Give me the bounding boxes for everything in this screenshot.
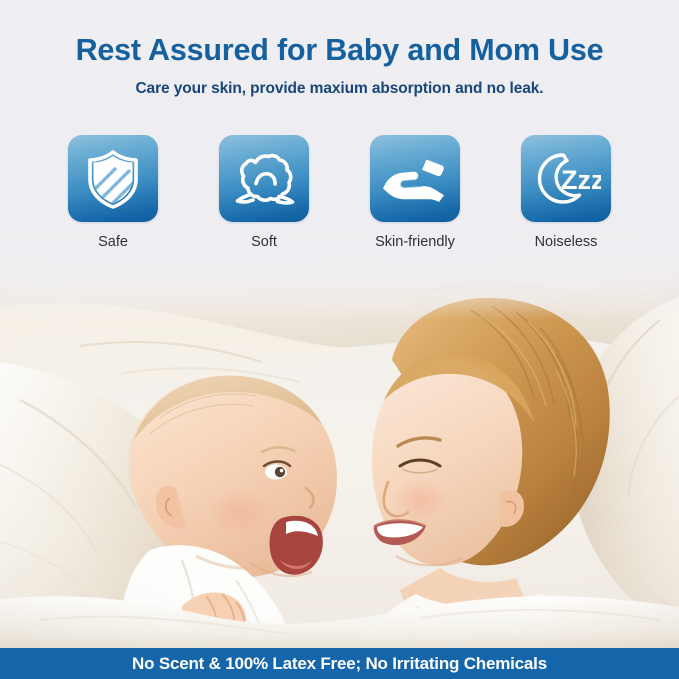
feature-label-safe: Safe [98, 234, 128, 250]
feature-label-noiseless: Noiseless [535, 234, 598, 250]
bottom-claim-text: No Scent & 100% Latex Free; No Irritatin… [132, 654, 547, 674]
feature-item-safe: Safe [48, 135, 178, 260]
feature-item-skin-friendly: Skin-friendly [350, 135, 480, 260]
feature-tile-noiseless: Zzz [521, 135, 611, 222]
feature-tile-safe [68, 135, 158, 222]
photo-top-fade [0, 250, 679, 320]
lifestyle-photo-mother-and-baby [0, 250, 679, 648]
bottom-claim-banner: No Scent & 100% Latex Free; No Irritatin… [0, 648, 679, 679]
feature-list: Safe Soft [48, 135, 631, 260]
product-infographic: Rest Assured for Baby and Mom Use Care y… [0, 0, 679, 679]
moon-zzz-icon: Zzz [531, 150, 601, 208]
feature-label-skin-friendly: Skin-friendly [375, 234, 455, 250]
feature-tile-soft [219, 135, 309, 222]
cloud-cotton-icon [231, 150, 297, 208]
feature-label-soft: Soft [251, 234, 277, 250]
feature-item-soft: Soft [199, 135, 329, 260]
open-hand-icon [381, 153, 449, 205]
page-title: Rest Assured for Baby and Mom Use [0, 33, 679, 68]
feature-tile-skin-friendly [370, 135, 460, 222]
page-subtitle: Care your skin, provide maxium absorptio… [0, 80, 679, 98]
shield-icon [85, 149, 141, 209]
feature-item-noiseless: Zzz Noiseless [501, 135, 631, 260]
zzz-label: Zzz [561, 165, 601, 195]
